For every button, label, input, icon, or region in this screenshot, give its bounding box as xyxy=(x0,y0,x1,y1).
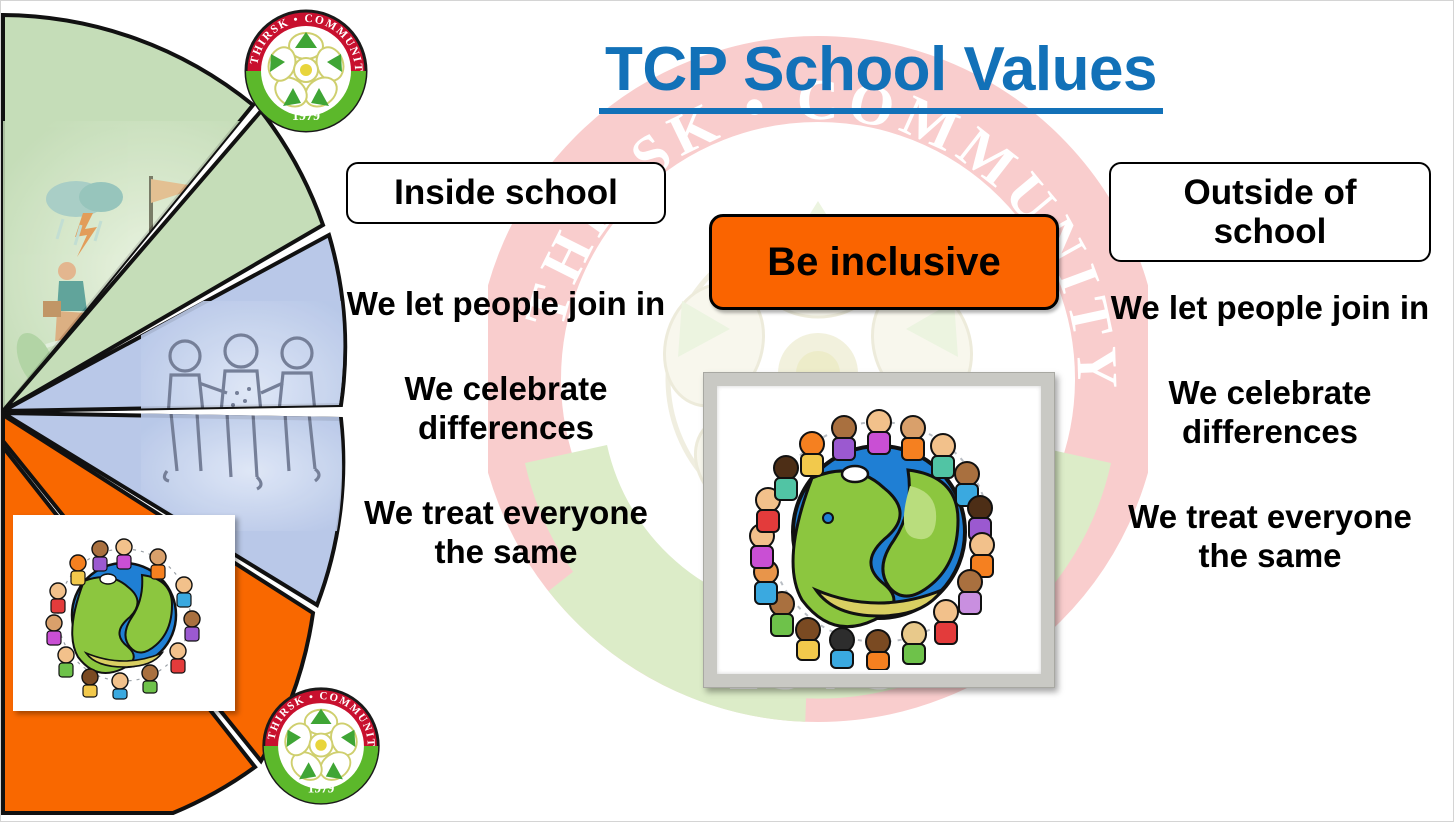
inside-school-label: Inside school xyxy=(394,173,618,212)
school-crest-logo-top: THIRSK • COMMUNITY • PRIMARY • SCHOOL 19… xyxy=(241,6,371,136)
outside-school-label-line1: Outside of xyxy=(1183,173,1356,212)
outside-school-header[interactable]: Outside of school xyxy=(1109,162,1431,262)
children-around-globe-image xyxy=(724,390,1034,670)
fan-inset-photo-mat xyxy=(20,522,228,704)
crest-year: 1979 xyxy=(292,109,320,124)
three-people-illustration-lower xyxy=(141,411,361,531)
children-around-globe-image-small xyxy=(24,523,224,703)
statement-item: We let people join in xyxy=(341,285,671,324)
inside-school-statements: We let people join in We celebrate diffe… xyxy=(341,285,671,572)
page-title-text: TCP School Values xyxy=(599,37,1163,114)
crest-year: 1979 xyxy=(308,781,335,796)
statement-item: We celebrate differences xyxy=(1105,374,1435,452)
outside-school-label: Outside of school xyxy=(1183,173,1356,251)
center-photo-frame xyxy=(703,372,1055,688)
statement-item: We treat everyone the same xyxy=(1105,498,1435,576)
inside-school-header[interactable]: Inside school xyxy=(346,162,666,224)
center-photo-mat xyxy=(717,386,1041,674)
outside-school-label-line2: school xyxy=(1214,212,1327,251)
statement-item: We treat everyone the same xyxy=(341,494,671,572)
slide-canvas: THIRSK • COMMUNITY • PRIMARY • SCHOOL xyxy=(0,0,1454,822)
value-banner-label: Be inclusive xyxy=(767,240,1000,285)
outside-school-statements: We let people join in We celebrate diffe… xyxy=(1105,289,1435,576)
fan-inset-photo-frame xyxy=(13,515,235,711)
value-banner[interactable]: Be inclusive xyxy=(709,214,1059,310)
school-crest-logo-bottom: THIRSK • COMMUNITY • PRIMARY • SCHOOL 19… xyxy=(259,684,383,808)
statement-item: We celebrate differences xyxy=(341,370,671,448)
statement-item: We let people join in xyxy=(1105,289,1435,328)
page-title: TCP School Values xyxy=(421,37,1341,114)
